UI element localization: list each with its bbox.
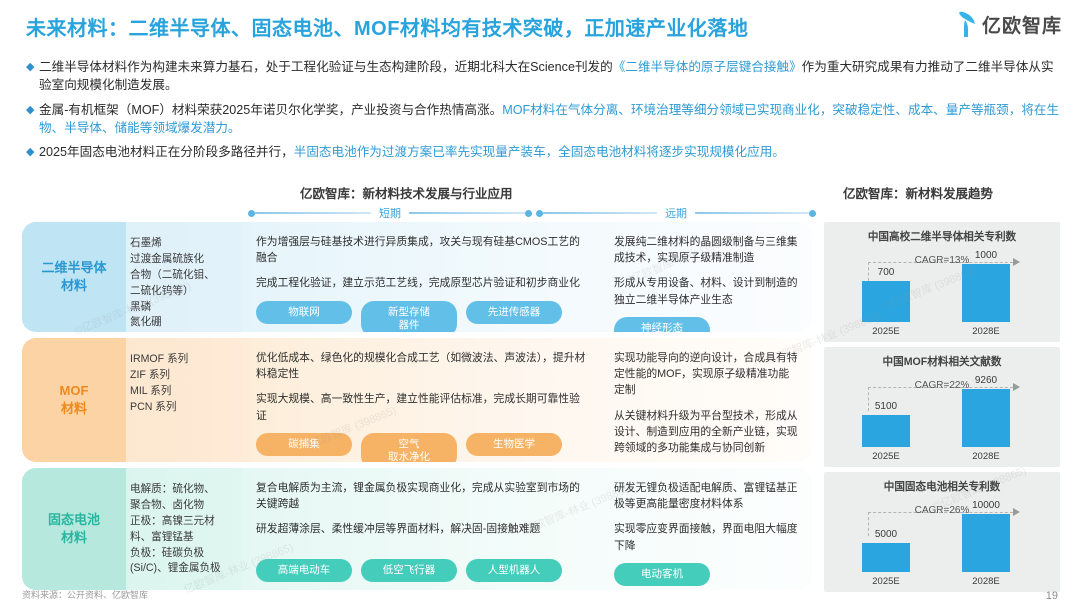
matrix-row-category: 二维半导体 材料 (22, 222, 126, 332)
bullet-text-part: 二维半导体材料作为构建未来算力基石，处于工程化验证与生态构建阶段，近期北科大在S… (39, 60, 613, 74)
logo-mark-icon (957, 10, 979, 38)
application-tag[interactable]: 人型机器人 (466, 559, 562, 582)
bullet-diamond-icon: ◆ (26, 59, 39, 76)
timeline-short-label: 短期 (371, 205, 409, 221)
technology-matrix: 二维半导体 材料石墨烯 过渡金属硫族化 合物（二硫化钼、 二硫化钨等） 黑磷 氮… (22, 222, 812, 596)
matrix-row-materials: 石墨烯 过渡金属硫族化 合物（二硫化钼、 二硫化钨等） 黑磷 氮化硼 (126, 222, 242, 332)
bullet-text: 金属-有机框架（MOF）材料荣获2025年诺贝尔化学奖，产业投资与合作热情高涨。… (39, 101, 1060, 138)
chart-title: 中国MOF材料相关文献数 (824, 354, 1060, 369)
chart-bar (962, 389, 1010, 447)
bullet-item: ◆二维半导体材料作为构建未来算力基石，处于工程化验证与生态构建阶段，近期北科大在… (26, 58, 1060, 95)
matrix-cell-paragraph: 作为增强层与硅基技术进行异质集成，攻关与现有硅基CMOS工艺的融合 (256, 234, 586, 266)
application-tag[interactable]: 低空飞行器 (361, 559, 457, 582)
chart-bar-value: 9260 (975, 375, 997, 386)
chart-bar (862, 281, 910, 322)
chart-bar-group: 10000 (962, 500, 1010, 572)
chart-bar (862, 543, 910, 572)
application-tag[interactable]: 神经形态 计算 (614, 317, 710, 332)
matrix-cell-short: 作为增强层与硅基技术进行异质集成，攻关与现有硅基CMOS工艺的融合完成工程化验证… (242, 222, 600, 332)
bullet-text-part: 金属-有机框架（MOF）材料荣获2025年诺贝尔化学奖，产业投资与合作热情高涨。 (39, 103, 502, 117)
matrix-cell-long: 发展纯二维材料的晶圆级制备与三维集成技术，实现原子级精准制造形成从专用设备、材料… (600, 222, 812, 332)
chart-bar-value: 5000 (875, 529, 897, 540)
chart-title: 中国固态电池相关专利数 (824, 479, 1060, 494)
chart-cagr-annotation: CAGR=13% (824, 255, 1060, 266)
bullet-diamond-icon: ◆ (26, 144, 39, 161)
bullet-text-part: 半固态电池作为过渡方案已率先实现量产装车，全固态电池材料将逐步实现规模化应用。 (294, 145, 785, 159)
source-note: 资料来源：公开资料、亿欧智库 (22, 588, 148, 601)
bar-chart: 中国高校二维半导体相关专利数CAGR=13%7002025E10002028E (824, 222, 1060, 342)
chart-bar-group: 9260 (962, 375, 1010, 447)
matrix-cell-paragraph: 从关键材料升级为平台型技术，形成从设计、制造到应用的全新产业链，实现跨领域的多功… (614, 408, 798, 457)
chart-category-label: 2028E (951, 326, 1021, 337)
application-tag-group: 碳捕集空气 取水净化生物医学 (256, 433, 586, 462)
chart-bar-value: 10000 (972, 500, 1000, 511)
chart-bar-value: 700 (878, 267, 895, 278)
bullet-text-part: 2025年固态电池材料正在分阶段多路径并行， (39, 145, 294, 159)
chart-cagr-annotation: CAGR=22% (824, 380, 1060, 391)
logo-text: 亿欧智库 (982, 11, 1062, 38)
matrix-cell-paragraph: 实现零应变界面接触，界面电阻大幅度下降 (614, 521, 798, 553)
chart-category-label: 2028E (951, 451, 1021, 462)
matrix-cell-paragraph: 实现大规模、高一致性生产，建立性能评估标准，完成长期可靠性验证 (256, 391, 586, 423)
bar-chart: 中国MOF材料相关文献数CAGR=22%51002025E92602028E (824, 347, 1060, 467)
timeline-dot-icon (525, 210, 532, 217)
page-header: 未来材料：二维半导体、固态电池、MOF材料均有技术突破，正加速产业化落地 亿欧智… (0, 0, 1080, 52)
chart-title: 中国高校二维半导体相关专利数 (824, 229, 1060, 244)
application-tag-group: 神经形态 计算柔性电子 (614, 317, 798, 332)
chart-bar (962, 514, 1010, 572)
application-tag[interactable]: 电动客机 (614, 563, 710, 586)
chart-cagr-annotation: CAGR=26% (824, 505, 1060, 516)
matrix-cell-paragraph: 发展纯二维材料的晶圆级制备与三维集成技术，实现原子级精准制造 (614, 234, 798, 266)
matrix-cell-short: 优化低成本、绿色化的规模化合成工艺（如微波法、声波法），提升材料稳定性实现大规模… (242, 338, 600, 462)
bullet-item: ◆2025年固态电池材料正在分阶段多路径并行，半固态电池作为过渡方案已率先实现量… (26, 143, 1060, 161)
bullet-list: ◆二维半导体材料作为构建未来算力基石，处于工程化验证与生态构建阶段，近期北科大在… (26, 58, 1060, 167)
matrix-cell-paragraph: 形成从专用设备、材料、设计到制造的独立二维半导体产业生态 (614, 275, 798, 307)
application-tag-group: 物联网新型存储 器件先进传感器 (256, 301, 586, 332)
application-tag[interactable]: 物联网 (256, 301, 352, 324)
chart-bar-group: 5000 (862, 529, 910, 572)
chart-category-label: 2025E (851, 576, 921, 587)
matrix-row: 固态电池 材料电解质：硫化物、 聚合物、卤化物 正极：高镍三元材 料、富锂锰基 … (22, 468, 812, 590)
bullet-text: 二维半导体材料作为构建未来算力基石，处于工程化验证与生态构建阶段，近期北科大在S… (39, 58, 1060, 95)
matrix-row-materials: 电解质：硫化物、 聚合物、卤化物 正极：高镍三元材 料、富锂锰基 负极：硅碳负极… (126, 468, 242, 590)
chart-bar (962, 264, 1010, 322)
application-tag[interactable]: 新型存储 器件 (361, 301, 457, 332)
matrix-cell-paragraph: 完成工程化验证，建立示范工艺线，完成原型芯片验证和初步商业化 (256, 275, 586, 291)
application-tag[interactable]: 碳捕集 (256, 433, 352, 456)
timeline: 短期 远期 (248, 204, 816, 222)
matrix-row: MOF 材料IRMOF 系列 ZIF 系列 MIL 系列 PCN 系列优化低成本… (22, 338, 812, 462)
timeline-long-label: 远期 (657, 205, 695, 221)
application-tag[interactable]: 空气 取水净化 (361, 433, 457, 462)
matrix-row-materials: IRMOF 系列 ZIF 系列 MIL 系列 PCN 系列 (126, 338, 242, 462)
matrix-row-category: MOF 材料 (22, 338, 126, 462)
bullet-diamond-icon: ◆ (26, 102, 39, 119)
application-tag[interactable]: 高端电动车 (256, 559, 352, 582)
timeline-long: 远期 (536, 204, 816, 222)
bullet-text: 2025年固态电池材料正在分阶段多路径并行，半固态电池作为过渡方案已率先实现量产… (39, 143, 785, 161)
chart-bar (862, 415, 910, 447)
chart-bar-value: 5100 (875, 401, 897, 412)
application-tag-group: 电动客机消费电子 (614, 563, 798, 590)
chart-bar-group: 700 (862, 267, 910, 322)
matrix-cell-paragraph: 研发无锂负极适配电解质、富锂锰基正极等更高能量密度材料体系 (614, 480, 798, 512)
chart-category-label: 2025E (851, 326, 921, 337)
chart-category-label: 2028E (951, 576, 1021, 587)
matrix-row: 二维半导体 材料石墨烯 过渡金属硫族化 合物（二硫化钼、 二硫化钨等） 黑磷 氮… (22, 222, 812, 332)
charts-column: 中国高校二维半导体相关专利数CAGR=13%7002025E10002028E中… (824, 222, 1060, 597)
timeline-dot-icon (536, 210, 543, 217)
matrix-cell-long: 实现功能导向的逆向设计，合成具有特定性能的MOF，实现原子级精准功能定制从关键材… (600, 338, 812, 462)
timeline-dot-icon (809, 210, 816, 217)
matrix-cell-paragraph: 复合电解质为主流，锂金属负极实现商业化，完成从实验室到市场的关键跨越 (256, 480, 586, 512)
timeline-short: 短期 (248, 204, 532, 222)
application-tag-group: 高端电动车低空飞行器人型机器人 (256, 559, 586, 582)
timeline-dot-icon (248, 210, 255, 217)
matrix-panel-title: 亿欧智库：新材料技术发展与行业应用 (300, 183, 513, 202)
charts-panel-title: 亿欧智库：新材料发展趋势 (843, 183, 993, 202)
chart-bar-group: 5100 (862, 401, 910, 447)
application-tag[interactable]: 先进传感器 (466, 301, 562, 324)
brand-logo: 亿欧智库 (957, 10, 1062, 38)
chart-bar-value: 1000 (975, 250, 997, 261)
matrix-cell-paragraph: 研发超薄涂层、柔性缓冲层等界面材料，解决固-固接触难题 (256, 521, 586, 537)
matrix-cell-long: 研发无锂负极适配电解质、富锂锰基正极等更高能量密度材料体系实现零应变界面接触，界… (600, 468, 812, 590)
matrix-cell-paragraph: 优化低成本、绿色化的规模化合成工艺（如微波法、声波法），提升材料稳定性 (256, 350, 586, 382)
bullet-item: ◆金属-有机框架（MOF）材料荣获2025年诺贝尔化学奖，产业投资与合作热情高涨… (26, 101, 1060, 138)
page-title: 未来材料：二维半导体、固态电池、MOF材料均有技术突破，正加速产业化落地 (26, 12, 748, 41)
matrix-cell-paragraph: 实现功能导向的逆向设计，合成具有特定性能的MOF，实现原子级精准功能定制 (614, 350, 798, 399)
application-tag[interactable]: 生物医学 (466, 433, 562, 456)
chart-bar-group: 1000 (962, 250, 1010, 322)
chart-category-label: 2025E (851, 451, 921, 462)
page-number: 19 (1046, 590, 1058, 602)
matrix-row-category: 固态电池 材料 (22, 468, 126, 590)
matrix-cell-short: 复合电解质为主流，锂金属负极实现商业化，完成从实验室到市场的关键跨越研发超薄涂层… (242, 468, 600, 590)
bullet-text-part: 《二维半导体的原子层键合接触》 (613, 60, 802, 74)
bar-chart: 中国固态电池相关专利数CAGR=26%50002025E100002028E (824, 472, 1060, 592)
